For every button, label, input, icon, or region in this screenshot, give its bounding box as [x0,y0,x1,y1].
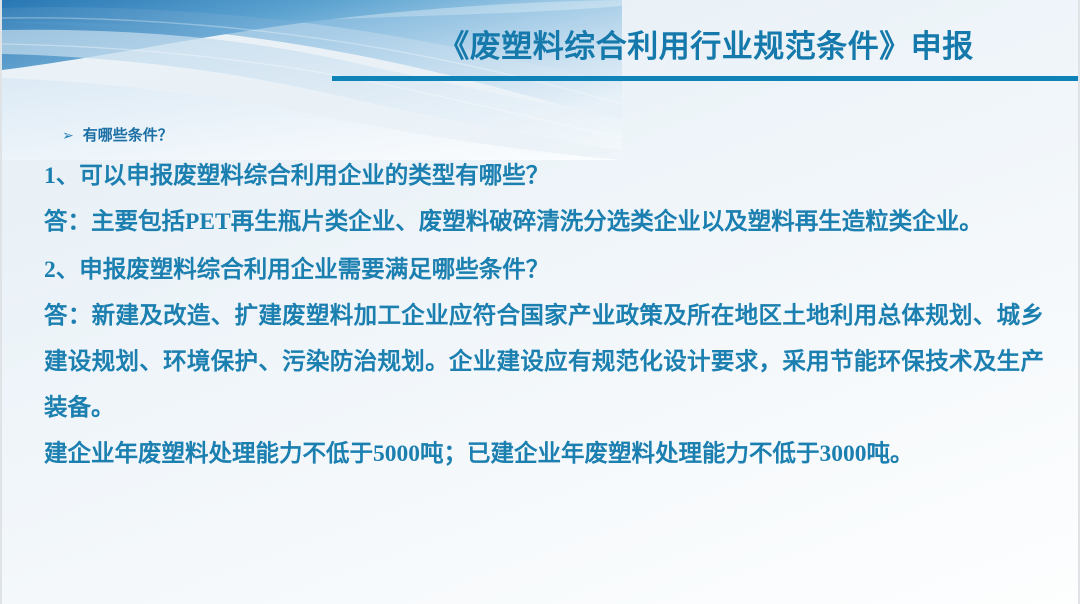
question-2-text: 2、申报废塑料综合利用企业需要满足哪些条件？ [44,247,1044,293]
arrow-bullet-icon: ➢ [62,130,74,144]
answer-2-text: 答：新建及改造、扩建废塑料加工企业应符合国家产业政策及所在地区土地利用总体规划、… [44,293,1044,431]
title-block: 《废塑料综合利用行业规范条件》申报 [332,26,1080,81]
bullet-label: 有哪些条件？ [83,126,173,147]
page-title: 《废塑料综合利用行业规范条件》申报 [332,26,1080,68]
answer-1-text: 答：主要包括PET再生瓶片类企业、废塑料破碎清洗分选类企业以及塑料再生造粒类企业… [44,199,1044,245]
slide-body: ➢ 有哪些条件？ 1、可以申报废塑料综合利用企业的类型有哪些？ 答：主要包括PE… [44,126,1044,477]
question-1-text: 1、可以申报废塑料综合利用企业的类型有哪些？ [44,153,1044,199]
presentation-slide: 《废塑料综合利用行业规范条件》申报 ➢ 有哪些条件？ 1、可以申报废塑料综合利用… [0,0,1080,604]
list-item: ➢ 有哪些条件？ [62,126,1044,147]
title-underline-rule [332,76,1080,81]
answer-2-capacity-text: 建企业年废塑料处理能力不低于5000吨；已建企业年废塑料处理能力不低于3000吨… [44,431,1044,477]
